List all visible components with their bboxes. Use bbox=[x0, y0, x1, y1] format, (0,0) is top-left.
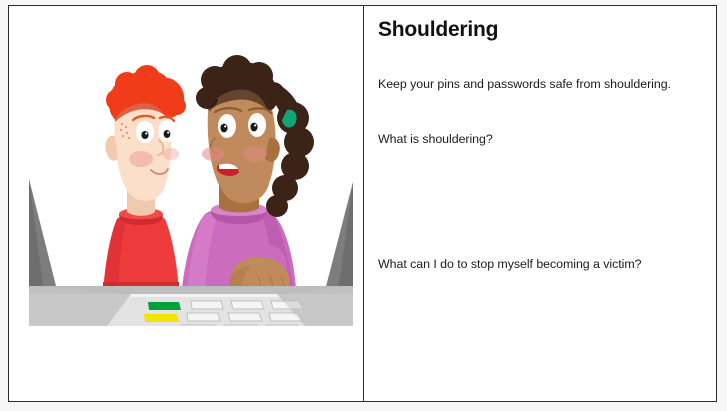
illustration-two-people-at-atm bbox=[19, 14, 363, 326]
paragraph-intro: Keep your pins and passwords safe from s… bbox=[378, 76, 678, 93]
paragraph-question-prevention: What can I do to stop myself becoming a … bbox=[378, 256, 718, 273]
paragraph-question-what-is: What is shouldering? bbox=[378, 131, 698, 148]
atm-console bbox=[29, 286, 353, 326]
page-title: Shouldering bbox=[378, 18, 498, 42]
slide-canvas: Shouldering Keep your pins and passwords… bbox=[8, 5, 717, 402]
text-panel: Shouldering Keep your pins and passwords… bbox=[364, 6, 717, 401]
